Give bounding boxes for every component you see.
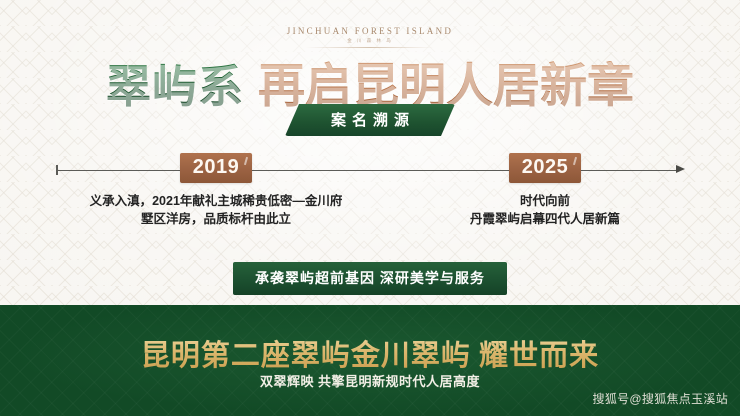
- year-tick-mark-icon: [244, 157, 248, 165]
- year-badge-2025-label: 2025: [522, 156, 569, 178]
- bottom-green-block: 昆明第二座翠屿金川翠屿 耀世而来 双翠辉映 共擎昆明新规时代人居高度 搜狐号@搜…: [0, 305, 740, 416]
- year-badge-2019: 2019: [180, 153, 253, 183]
- bottom-subtitle: 双翠辉映 共擎昆明新规时代人居高度: [0, 371, 740, 390]
- brand-lockup: JINCHUAN FOREST ISLAND 金 川 森 林 岛: [0, 26, 740, 48]
- timeline-node-2025-line2: 丹霞翠屿启幕四代人居新篇: [405, 210, 685, 228]
- timeline-node-2025-description: 时代向前 丹霞翠屿启幕四代人居新篇: [405, 192, 685, 228]
- timeline-node-2025-line1: 时代向前: [405, 192, 685, 210]
- timeline-node-2019: 2019 义承入滇，2021年献礼主城稀贵低密—金川府 墅区洋房，品质标杆由此立: [41, 153, 391, 228]
- watermark-text: 搜狐号@搜狐焦点玉溪站: [593, 390, 728, 407]
- timeline-node-2019-description: 义承入滇，2021年献礼主城稀贵低密—金川府 墅区洋房，品质标杆由此立: [41, 192, 391, 228]
- year-badge-2025: 2025: [509, 153, 582, 183]
- mid-banner-label: 承袭翠屿超前基因 深研美学与服务: [233, 262, 507, 295]
- brand-chinese-subname: 金 川 森 林 岛: [0, 38, 740, 44]
- bottom-title: 昆明第二座翠屿金川翠屿 耀世而来: [0, 332, 740, 374]
- year-badge-2019-label: 2019: [193, 156, 240, 178]
- timeline-node-2025: 2025 时代向前 丹霞翠屿启幕四代人居新篇: [405, 153, 685, 228]
- section-ribbon-badge: 案名溯源: [285, 104, 455, 136]
- year-tick-mark-icon: [573, 157, 577, 165]
- poster-root: JINCHUAN FOREST ISLAND 金 川 森 林 岛 翠屿系再启昆明…: [0, 0, 740, 416]
- brand-english-name: JINCHUAN FOREST ISLAND: [0, 26, 740, 36]
- timeline-node-2019-line1: 义承入滇，2021年献礼主城稀贵低密—金川府: [41, 192, 391, 210]
- section-ribbon-wrap: 案名溯源: [0, 104, 740, 136]
- mid-banner-wrap: 承袭翠屿超前基因 深研美学与服务: [0, 262, 740, 295]
- timeline-node-2019-line2: 墅区洋房，品质标杆由此立: [41, 210, 391, 228]
